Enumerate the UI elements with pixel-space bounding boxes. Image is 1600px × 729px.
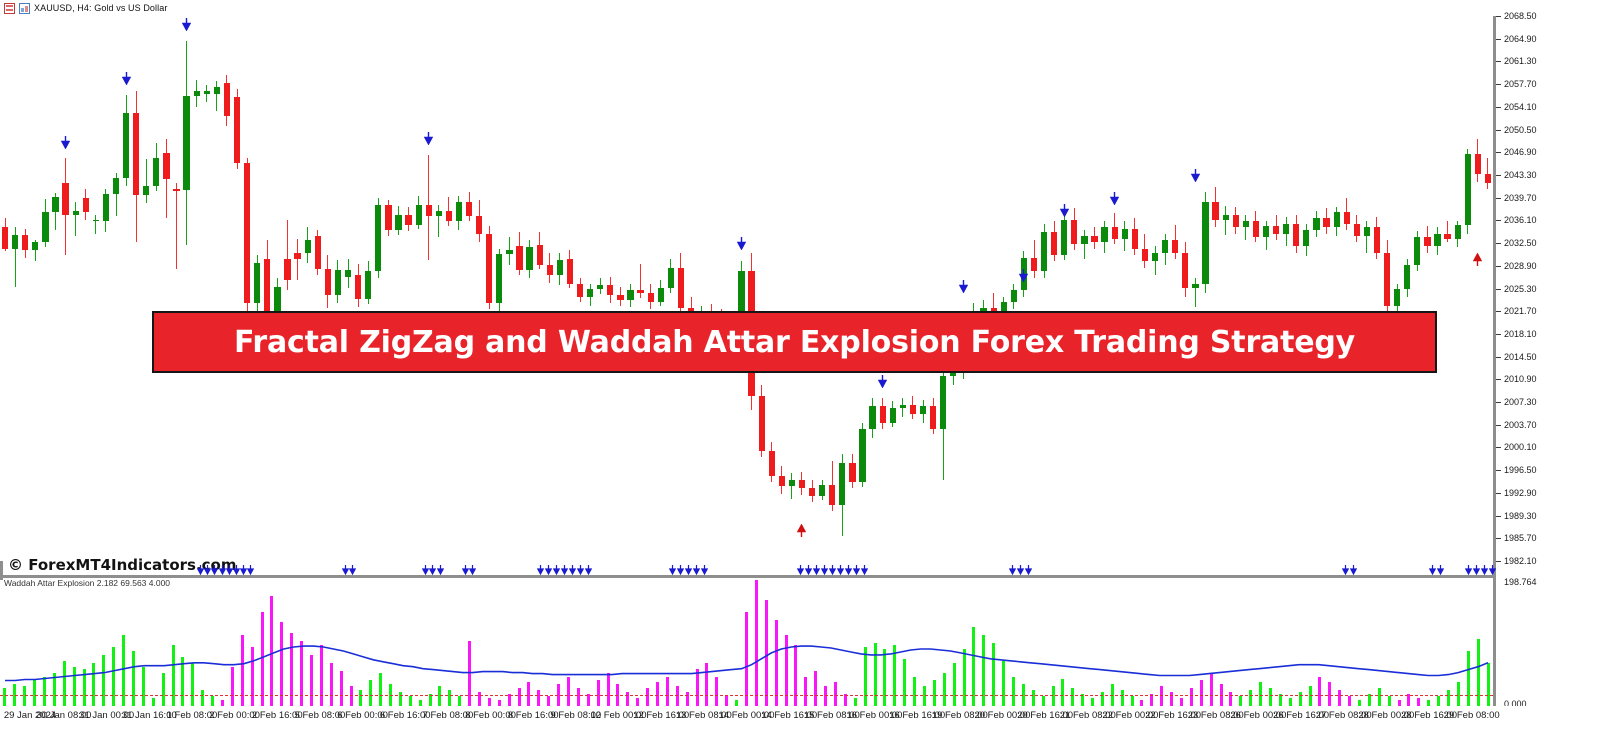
candle-body — [1142, 249, 1148, 262]
candle-body — [1051, 232, 1057, 255]
fractal-marker-icon — [821, 562, 828, 572]
fractal-marker-icon — [537, 562, 544, 572]
candle-body — [1444, 234, 1450, 239]
candle-body — [446, 211, 452, 221]
candle-body — [456, 202, 462, 221]
candle-body — [32, 242, 38, 250]
candle-body — [1414, 237, 1420, 265]
candle-body — [1091, 236, 1097, 242]
fractal-marker-icon — [545, 562, 552, 572]
price-scale-tick — [1496, 243, 1501, 244]
fractal-down-arrow-icon — [182, 18, 191, 31]
candle-body — [577, 284, 583, 297]
fractal-marker-icon — [204, 562, 211, 572]
fractal-marker-icon — [577, 562, 584, 572]
fractal-arrow-row — [0, 562, 1493, 576]
candle-body — [1041, 232, 1047, 271]
candle-body — [83, 198, 89, 212]
price-scale-label: 1996.50 — [1504, 465, 1537, 475]
candle-body — [678, 268, 684, 308]
price-chart-pane[interactable] — [0, 16, 1493, 561]
fractal-marker-icon — [226, 562, 233, 572]
candle-body — [617, 295, 623, 300]
fractal-down-arrow-icon — [1019, 269, 1028, 282]
candle-body — [1122, 229, 1128, 239]
candle-body — [1233, 215, 1239, 228]
price-scale-label: 1982.10 — [1504, 556, 1537, 566]
candle-body — [375, 205, 381, 272]
candle-body — [1112, 227, 1118, 238]
candle-body — [133, 113, 139, 195]
fractal-marker-icon — [853, 562, 860, 572]
price-scale-label: 2043.30 — [1504, 170, 1537, 180]
fractal-down-arrow-icon — [737, 237, 746, 250]
price-scale-tick — [1496, 61, 1501, 62]
candle-body — [52, 197, 58, 212]
candle-wick — [1245, 215, 1246, 240]
fractal-down-arrow-icon — [122, 72, 131, 85]
candle-body — [809, 488, 815, 496]
candle-body — [496, 254, 502, 303]
fractal-marker-icon — [1009, 562, 1016, 572]
candle-wick — [1366, 221, 1367, 253]
fractal-marker-icon — [1473, 562, 1480, 572]
price-scale-tick — [1496, 334, 1501, 335]
price-scale[interactable]: 2068.502064.902061.302057.702054.102050.… — [1496, 16, 1600, 706]
candle-body — [1223, 215, 1229, 220]
candle-body — [93, 220, 99, 222]
candle-body — [1303, 230, 1309, 246]
price-scale-label: 2007.30 — [1504, 397, 1537, 407]
candle-body — [769, 451, 775, 476]
candle-body — [1031, 258, 1037, 272]
fractal-down-arrow-icon — [1110, 192, 1119, 205]
fractal-marker-icon — [797, 562, 804, 572]
candle-wick — [146, 159, 147, 203]
price-scale-tick — [1496, 538, 1501, 539]
chart-red-icon — [4, 3, 15, 14]
candle-body — [799, 480, 805, 489]
candle-body — [1061, 220, 1067, 255]
candle-body — [365, 271, 371, 299]
candle-body — [940, 376, 946, 429]
price-scale-tick — [1496, 379, 1501, 380]
candle-body — [22, 235, 28, 250]
candle-body — [264, 259, 270, 312]
fractal-marker-icon — [1350, 562, 1357, 572]
candle-body — [1212, 202, 1218, 220]
candle-body — [294, 253, 300, 259]
candle-body — [173, 189, 179, 191]
price-scale-label: 2021.70 — [1504, 306, 1537, 316]
price-scale-label: 2003.70 — [1504, 420, 1537, 430]
candle-body — [335, 270, 341, 295]
candle-body — [1283, 224, 1289, 234]
candle-body — [1424, 237, 1430, 246]
candle-body — [930, 406, 936, 429]
price-scale-label: 2032.50 — [1504, 238, 1537, 248]
candle-body — [476, 216, 482, 234]
fractal-marker-icon — [685, 562, 692, 572]
candle-body — [1202, 202, 1208, 284]
candle-body — [1263, 226, 1269, 237]
price-scale-tick — [1496, 266, 1501, 267]
candle-body — [73, 211, 79, 215]
candle-body — [1253, 221, 1259, 237]
price-scale-label: 2025.30 — [1504, 284, 1537, 294]
price-scale-tick — [1496, 39, 1501, 40]
candle-body — [1455, 225, 1461, 239]
fractal-marker-icon — [462, 562, 469, 572]
candle-body — [1011, 290, 1017, 301]
fractal-marker-icon — [342, 562, 349, 572]
candle-wick — [95, 215, 96, 234]
candle-body — [274, 287, 280, 312]
candle-body — [516, 246, 522, 270]
candle-wick — [791, 473, 792, 498]
fractal-marker-icon — [197, 562, 204, 572]
mt4-chart-window: XAUUSD, H4: Gold vs US Dollar 2068.50206… — [0, 0, 1600, 729]
fractal-down-arrow-icon — [1191, 169, 1200, 182]
fractal-down-arrow-icon — [1060, 204, 1069, 217]
candle-body — [1071, 220, 1077, 244]
price-scale-label: 2039.70 — [1504, 193, 1537, 203]
price-scale-label: 2028.90 — [1504, 261, 1537, 271]
fractal-marker-icon — [219, 562, 226, 572]
candle-body — [1374, 227, 1380, 252]
fractal-marker-icon — [1437, 562, 1444, 572]
candle-body — [385, 205, 391, 230]
candle-body — [183, 96, 189, 190]
candle-body — [194, 91, 200, 96]
price-scale-label: 1985.70 — [1504, 533, 1537, 543]
candle-body — [849, 463, 855, 482]
candle-wick — [206, 85, 207, 103]
price-scale-label: 2018.10 — [1504, 329, 1537, 339]
price-scale-tick — [1496, 357, 1501, 358]
candle-body — [1344, 212, 1350, 223]
fractal-marker-icon — [1017, 562, 1024, 572]
candle-body — [254, 263, 260, 303]
price-scale-label: 2050.50 — [1504, 125, 1537, 135]
candle-body — [62, 183, 68, 215]
candle-body — [315, 236, 321, 269]
fractal-marker-icon — [813, 562, 820, 572]
fractal-marker-icon — [837, 562, 844, 572]
price-scale-label: 2057.70 — [1504, 79, 1537, 89]
price-scale-label: 2036.10 — [1504, 215, 1537, 225]
fractal-marker-icon — [469, 562, 476, 572]
candle-body — [163, 153, 169, 179]
candle-body — [1394, 289, 1400, 305]
candle-body — [1152, 253, 1158, 262]
candle-body — [1243, 221, 1249, 227]
fractal-marker-icon — [422, 562, 429, 572]
price-scale-tick — [1496, 516, 1501, 517]
price-scale-tick — [1496, 84, 1501, 85]
candle-body — [405, 215, 411, 225]
price-scale-tick — [1496, 152, 1501, 153]
candle-body — [839, 463, 845, 505]
candle-body — [1404, 265, 1410, 289]
candle-body — [345, 270, 351, 276]
chart-blue-icon — [19, 3, 30, 14]
candle-body — [658, 288, 664, 302]
candle-body — [1364, 227, 1370, 236]
candle-body — [153, 158, 159, 186]
candle-wick — [1084, 230, 1085, 259]
candle-wick — [75, 202, 76, 236]
price-scale-tick — [1496, 402, 1501, 403]
candle-body — [1384, 253, 1390, 306]
candle-body — [1475, 154, 1481, 174]
indicator-scale-label: 198.764 — [1504, 577, 1537, 587]
fractal-marker-icon — [693, 562, 700, 572]
candle-body — [547, 265, 553, 275]
price-scale-tick — [1496, 289, 1501, 290]
candle-body — [244, 163, 250, 303]
candle-body — [506, 250, 512, 254]
explosion-signal-line — [0, 580, 1493, 706]
candle-body — [779, 476, 785, 486]
candle-body — [1101, 227, 1107, 242]
waddah-attar-pane[interactable] — [0, 580, 1493, 706]
candle-body — [204, 91, 210, 94]
candle-body — [355, 275, 361, 299]
candle-wick — [1447, 221, 1448, 242]
candle-body — [1273, 226, 1279, 234]
candle-body — [637, 290, 643, 293]
candle-body — [829, 485, 835, 505]
candle-body — [1293, 224, 1299, 247]
candle-body — [1162, 240, 1168, 253]
fractal-marker-icon — [805, 562, 812, 572]
price-scale-label: 2064.90 — [1504, 34, 1537, 44]
strategy-title-text: Fractal ZigZag and Waddah Attar Explosio… — [234, 325, 1355, 360]
candle-body — [224, 83, 230, 116]
candle-body — [1485, 174, 1491, 183]
candle-body — [1323, 218, 1329, 227]
candle-body — [1334, 212, 1340, 227]
candle-body — [1172, 240, 1178, 253]
price-scale-tick — [1496, 175, 1501, 176]
candle-body — [759, 396, 765, 450]
fractal-marker-icon — [569, 562, 576, 572]
candle-body — [2, 227, 8, 248]
candle-wick — [176, 183, 177, 269]
candle-body — [416, 205, 422, 225]
indicator-label: Waddah Attar Explosion 2.182 69.563 4.00… — [4, 578, 170, 588]
symbol-title: XAUUSD, H4: Gold vs US Dollar — [34, 3, 167, 13]
candle-body — [1192, 284, 1198, 288]
fractal-marker-icon — [585, 562, 592, 572]
candle-body — [1313, 218, 1319, 229]
fractal-marker-icon — [701, 562, 708, 572]
price-scale-tick — [1496, 16, 1501, 17]
window-titlebar: XAUUSD, H4: Gold vs US Dollar — [0, 0, 1600, 16]
fractal-marker-icon — [1489, 562, 1496, 572]
candle-body — [880, 406, 886, 422]
fractal-marker-icon — [561, 562, 568, 572]
candle-body — [234, 97, 240, 163]
fractal-marker-icon — [240, 562, 247, 572]
strategy-title-banner: Fractal ZigZag and Waddah Attar Explosio… — [152, 311, 1437, 373]
time-scale-label: 29 Feb 08:00 — [1444, 710, 1500, 721]
candle-body — [597, 285, 603, 289]
price-scale-tick — [1496, 470, 1501, 471]
fractal-marker-icon — [437, 562, 444, 572]
price-scale-label: 1992.90 — [1504, 488, 1537, 498]
fractal-marker-icon — [553, 562, 560, 572]
candle-wick — [216, 81, 217, 111]
price-scale-tick — [1496, 493, 1501, 494]
fractal-marker-icon — [1465, 562, 1472, 572]
price-scale-tick — [1496, 130, 1501, 131]
price-scale-label: 2046.90 — [1504, 147, 1537, 157]
price-scale-label: 2000.10 — [1504, 442, 1537, 452]
candle-body — [42, 212, 48, 243]
candle-body — [436, 211, 442, 216]
fractal-marker-icon — [1342, 562, 1349, 572]
fractal-marker-icon — [1481, 562, 1488, 572]
candle-body — [1081, 236, 1087, 244]
price-scale-tick — [1496, 198, 1501, 199]
fractal-marker-icon — [233, 562, 240, 572]
price-scale-tick — [1496, 107, 1501, 108]
candle-body — [819, 485, 825, 496]
fractal-down-arrow-icon — [878, 375, 887, 388]
candle-wick — [1225, 206, 1226, 235]
candle-body — [557, 260, 563, 275]
candle-body — [537, 245, 543, 265]
fractal-marker-icon — [1429, 562, 1436, 572]
candle-body — [648, 293, 654, 302]
fractal-marker-icon — [677, 562, 684, 572]
fractal-down-arrow-icon — [959, 280, 968, 293]
candle-body — [900, 405, 906, 408]
candle-body — [627, 290, 633, 300]
fractal-marker-icon — [861, 562, 868, 572]
candle-body — [869, 406, 875, 429]
candle-body — [567, 259, 573, 284]
price-scale-label: 2068.50 — [1504, 11, 1537, 21]
candle-body — [859, 429, 865, 482]
candle-wick — [1195, 278, 1196, 307]
candle-body — [526, 247, 532, 270]
price-scale-label: 2010.90 — [1504, 374, 1537, 384]
candle-body — [426, 205, 432, 216]
candle-body — [1182, 253, 1188, 288]
candle-body — [113, 178, 119, 194]
candle-body — [607, 285, 613, 295]
candle-body — [1354, 224, 1360, 237]
candle-body — [587, 289, 593, 297]
fractal-marker-icon — [845, 562, 852, 572]
candle-wick — [438, 205, 439, 238]
candle-body — [1132, 229, 1138, 249]
price-scale-tick — [1496, 561, 1501, 562]
candle-wick — [297, 239, 298, 281]
candle-body — [1465, 154, 1471, 225]
candle-body — [325, 269, 331, 295]
candle-body — [910, 405, 916, 414]
fractal-marker-icon — [1025, 562, 1032, 572]
price-scale-tick — [1496, 447, 1501, 448]
candle-body — [668, 268, 674, 288]
candle-body — [395, 215, 401, 230]
fractal-marker-icon — [211, 562, 218, 572]
candle-body — [890, 408, 896, 423]
fractal-marker-icon — [349, 562, 356, 572]
price-scale-tick — [1496, 220, 1501, 221]
price-scale-label: 1989.30 — [1504, 511, 1537, 521]
price-scale-label: 2061.30 — [1504, 56, 1537, 66]
fractal-down-arrow-icon — [61, 136, 70, 149]
candle-body — [214, 87, 220, 93]
fractal-marker-icon — [247, 562, 254, 572]
fractal-marker-icon — [829, 562, 836, 572]
candle-body — [1434, 234, 1440, 247]
candle-body — [466, 202, 472, 216]
fractal-up-arrow-icon — [1473, 253, 1482, 266]
candle-body — [305, 240, 311, 253]
price-scale-tick — [1496, 311, 1501, 312]
price-scale-tick — [1496, 425, 1501, 426]
candle-body — [123, 113, 129, 179]
candle-body — [143, 186, 149, 195]
fractal-marker-icon — [669, 562, 676, 572]
candle-body — [284, 259, 290, 280]
fractal-marker-icon — [429, 562, 436, 572]
time-scale[interactable]: 29 Jan 202430 Jan 08:0031 Jan 00:0031 Ja… — [0, 706, 1600, 729]
fractal-down-arrow-icon — [424, 132, 433, 145]
candle-body — [920, 406, 926, 414]
price-scale-label: 2014.50 — [1504, 352, 1537, 362]
price-scale-label: 2054.10 — [1504, 102, 1537, 112]
fractal-up-arrow-icon — [797, 524, 806, 537]
candle-body — [486, 234, 492, 303]
candle-body — [789, 480, 795, 486]
candle-body — [12, 235, 18, 249]
candle-body — [103, 194, 109, 221]
